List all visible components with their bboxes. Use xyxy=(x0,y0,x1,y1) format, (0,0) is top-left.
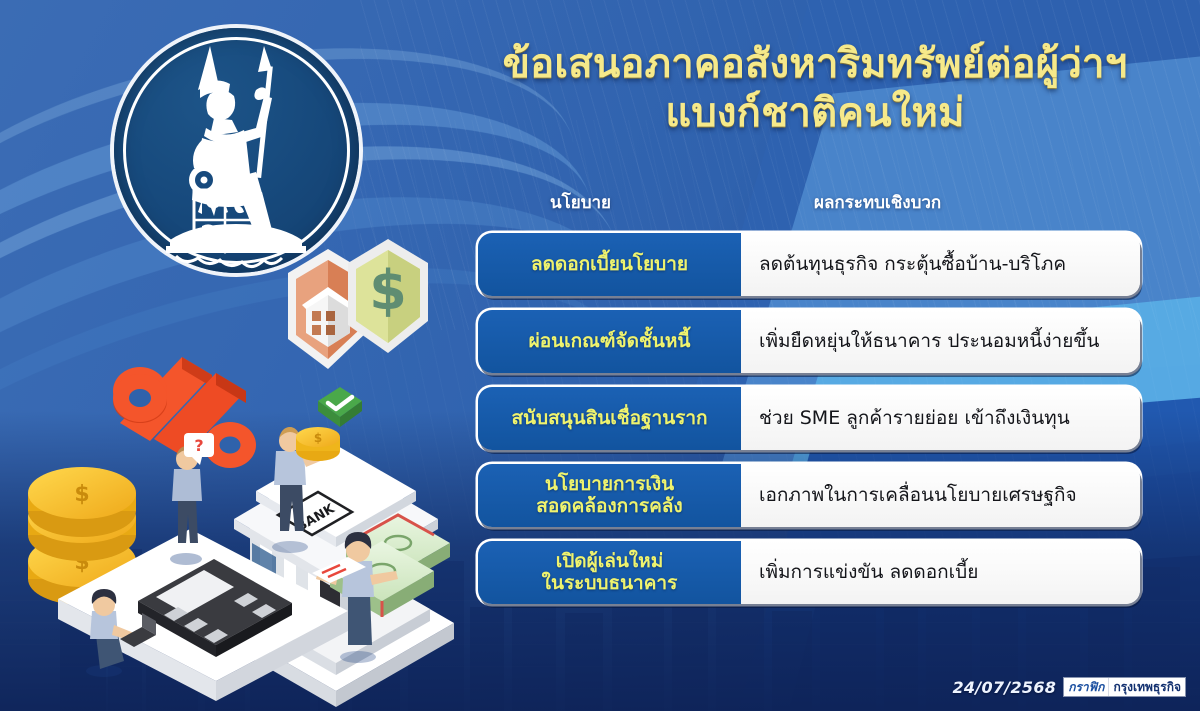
impact-label: เอกภาพในการเคลื่อนนโยบายเศรษฐกิจ xyxy=(759,485,1077,507)
bank-of-thailand-emblem xyxy=(114,28,359,273)
impact-label: ลดต้นทุนธุรกิจ กระตุ้นซื้อบ้าน-บริโภค xyxy=(759,254,1066,276)
publish-date: 24/07/2568 xyxy=(952,678,1056,697)
page-title-line-2: แบงก์ชาติคนใหม่ xyxy=(455,89,1175,138)
table-row: เปิดผู้เล่นใหม่ในระบบธนาคาร เพิ่มการแข่ง… xyxy=(478,541,1140,604)
policy-label: เปิดผู้เล่นใหม่ในระบบธนาคาร xyxy=(542,551,678,594)
isometric-finance-illustration: $ $ xyxy=(20,225,490,645)
policy-label: สนับสนุนสินเชื่อฐานราก xyxy=(511,408,707,429)
policy-label: ผ่อนเกณฑ์จัดชั้นหนี้ xyxy=(529,331,691,352)
impact-label: เพิ่มยืดหยุ่นให้ธนาคาร ประนอมหนี้ง่ายขึ้… xyxy=(759,331,1099,353)
check-badge-icon xyxy=(318,387,362,427)
impact-cell: เพิ่มยืดหยุ่นให้ธนาคาร ประนอมหนี้ง่ายขึ้… xyxy=(741,310,1140,373)
brand-name: กรุงเทพธุรกิจ xyxy=(1108,678,1185,696)
table-row: ลดดอกเบี้ยนโยบาย ลดต้นทุนธุรกิจ กระตุ้นซ… xyxy=(478,233,1140,296)
impact-cell: ช่วย SME ลูกค้ารายย่อย เข้าถึงเงินทุน xyxy=(741,387,1140,450)
policy-pill: ลดดอกเบี้ยนโยบาย xyxy=(478,233,741,296)
impact-cell: เอกภาพในการเคลื่อนนโยบายเศรษฐกิจ xyxy=(741,464,1140,527)
question-mark-label: ? xyxy=(194,436,203,455)
policy-pill: สนับสนุนสินเชื่อฐานราก xyxy=(478,387,741,450)
table-row: สนับสนุนสินเชื่อฐานราก ช่วย SME ลูกค้ารา… xyxy=(478,387,1140,450)
impact-cell: เพิ่มการแข่งขัน ลดดอกเบี้ย xyxy=(741,541,1140,604)
table-row: นโยบายการเงินสอดคล้องการคลัง เอกภาพในการ… xyxy=(478,464,1140,527)
infographic-canvas: $ $ xyxy=(0,0,1200,711)
footer-credit: 24/07/2568 กราฟิก กรุงเทพธุรกิจ xyxy=(952,677,1186,697)
policy-label: ลดดอกเบี้ยนโยบาย xyxy=(531,254,688,275)
policy-pill: เปิดผู้เล่นใหม่ในระบบธนาคาร xyxy=(478,541,741,604)
policy-pill: นโยบายการเงินสอดคล้องการคลัง xyxy=(478,464,741,527)
column-header-policy: นโยบาย xyxy=(550,189,611,216)
graphic-credit-label: กราฟิก xyxy=(1064,678,1108,696)
svg-text:$: $ xyxy=(314,431,322,445)
column-headers: นโยบาย ผลกระทบเชิงบวก xyxy=(478,189,1138,215)
column-header-impact: ผลกระทบเชิงบวก xyxy=(814,189,941,216)
policy-impact-table: ลดดอกเบี้ยนโยบาย ลดต้นทุนธุรกิจ กระตุ้นซ… xyxy=(478,233,1140,618)
svg-text:$: $ xyxy=(369,259,407,322)
page-title-line-1: ข้อเสนอภาคอสังหาริมทรัพย์ต่อผู้ว่าฯ xyxy=(503,41,1128,87)
impact-label: ช่วย SME ลูกค้ารายย่อย เข้าถึงเงินทุน xyxy=(759,408,1070,430)
svg-text:$: $ xyxy=(74,482,89,507)
brand-badge: กราฟิก กรุงเทพธุรกิจ xyxy=(1063,677,1186,697)
impact-label: เพิ่มการแข่งขัน ลดดอกเบี้ย xyxy=(759,562,978,584)
impact-cell: ลดต้นทุนธุรกิจ กระตุ้นซื้อบ้าน-บริโภค xyxy=(741,233,1140,296)
table-row: ผ่อนเกณฑ์จัดชั้นหนี้ เพิ่มยืดหยุ่นให้ธนา… xyxy=(478,310,1140,373)
page-title: ข้อเสนอภาคอสังหาริมทรัพย์ต่อผู้ว่าฯ แบงก… xyxy=(455,40,1175,138)
policy-label: นโยบายการเงินสอดคล้องการคลัง xyxy=(536,474,682,517)
policy-pill: ผ่อนเกณฑ์จัดชั้นหนี้ xyxy=(478,310,741,373)
